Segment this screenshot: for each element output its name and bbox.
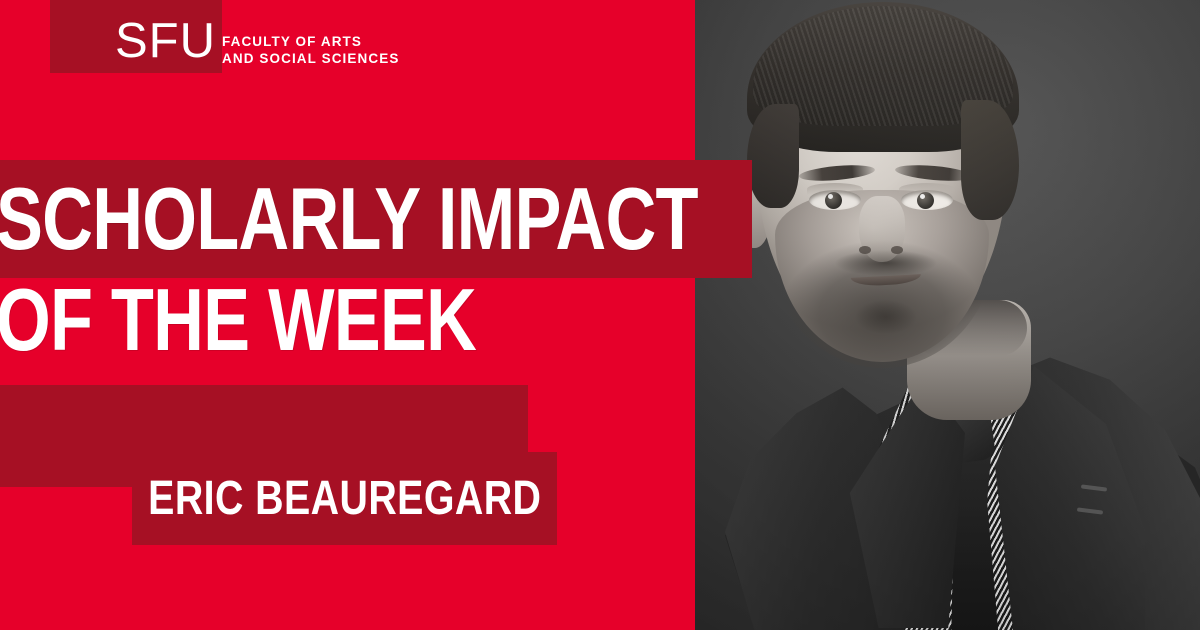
headline-row-1: SCHOLARLY IMPACT bbox=[0, 160, 873, 267]
eyelid-right bbox=[899, 183, 955, 195]
faculty-line-1: FACULTY OF ARTS bbox=[222, 34, 399, 51]
sfu-logo-block: SFU bbox=[50, 0, 222, 73]
sfu-wordmark: SFU bbox=[115, 15, 216, 67]
headline-line-2: OF THE WEEK bbox=[0, 267, 698, 368]
subject-name: ERIC BEAUREGARD bbox=[148, 474, 541, 524]
subject-name-banner: ERIC BEAUREGARD bbox=[132, 452, 557, 545]
headline: SCHOLARLY IMPACT OF THE WEEK bbox=[0, 160, 873, 368]
headline-row-2: OF THE WEEK bbox=[0, 267, 873, 368]
scholarly-impact-poster: SFU FACULTY OF ARTS AND SOCIAL SCIENCES … bbox=[0, 0, 1200, 630]
faculty-line-2: AND SOCIAL SCIENCES bbox=[222, 51, 399, 68]
headline-line-1: SCHOLARLY IMPACT bbox=[0, 160, 698, 267]
nostril-right bbox=[891, 246, 903, 254]
faculty-name: FACULTY OF ARTS AND SOCIAL SCIENCES bbox=[222, 34, 399, 67]
